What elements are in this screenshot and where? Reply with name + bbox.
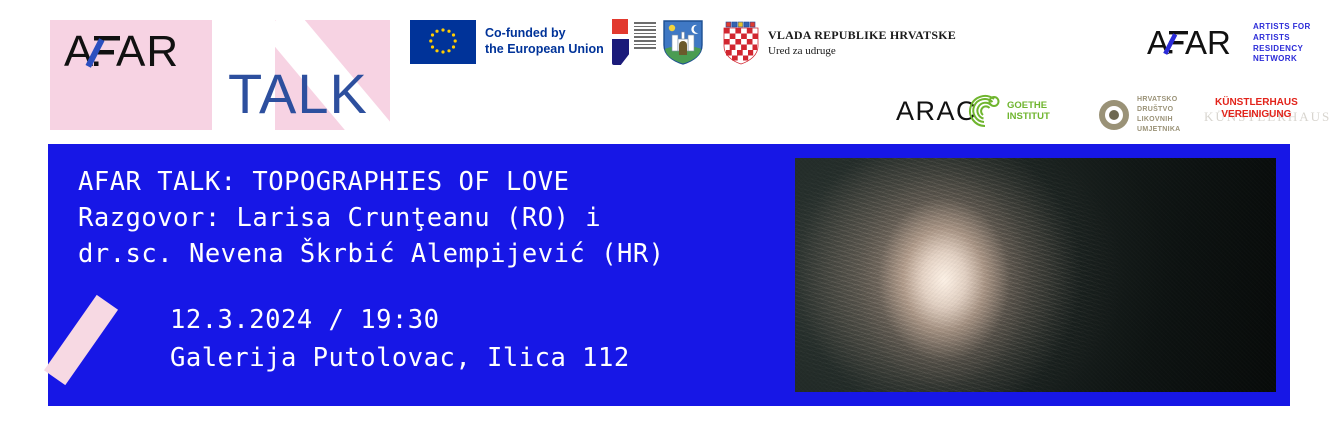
kunstlerhaus-logo: KÜNSTLERHAUS KÜNSTLERHAUS VEREINIGUNG	[1204, 96, 1312, 130]
eu-label-line2: the European Union	[485, 42, 604, 58]
photo-grain-layer	[795, 158, 1276, 392]
banner-pink-slash	[44, 295, 118, 385]
afar-wordmark-icon: A AR	[1147, 27, 1243, 61]
goethe-institut-label: GOETHE INSTITUT	[1007, 100, 1050, 123]
croatia-coat-of-arms-icon	[722, 19, 760, 65]
vlada-rh-title: VLADA REPUBLIKE HRVATSKE	[768, 28, 956, 43]
vlada-rh-logo: VLADA REPUBLIKE HRVATSKE Ured za udruge	[722, 19, 956, 65]
goethe-institut-logo: GOETHE INSTITUT	[968, 94, 1050, 128]
goethe-label-line2: INSTITUT	[1007, 111, 1050, 122]
afar-wordmark-icon: A AR	[64, 30, 198, 76]
eu-cofunded-label: Co-funded by the European Union	[485, 26, 604, 57]
event-details: 12.3.2024 / 19:30 Galerija Putolovac, Il…	[170, 301, 630, 377]
arac-logo: ARAC	[896, 96, 977, 127]
hdlu-mark-icon	[1098, 99, 1130, 131]
afar-network-tagline: ARTISTS FOR ARTISTS RESIDENCY NETWORK	[1253, 22, 1311, 65]
kulturstiftung-textlines-icon	[634, 19, 656, 65]
vlada-rh-text: VLADA REPUBLIKE HRVATSKE Ured za udruge	[768, 28, 956, 57]
header-logo-bar: A AR TALK	[0, 0, 1332, 144]
afar-tagline-line1: ARTISTS FOR	[1253, 22, 1311, 33]
afar-network-logo: A AR ARTISTS FOR ARTISTS RESIDENCY NETWO…	[1147, 22, 1311, 65]
svg-text:A: A	[1147, 27, 1169, 61]
afar-tagline-line3: RESIDENCY	[1253, 44, 1311, 55]
svg-text:AR: AR	[116, 30, 179, 76]
zagreb-coat-of-arms-icon	[660, 19, 706, 65]
afar-tagline-line2: ARTISTS	[1253, 33, 1311, 44]
hdlu-logo: HRVATSKO DRUŠTVO LIKOVNIH UMJETNIKA	[1098, 95, 1181, 136]
goethe-institut-mark-icon	[968, 94, 1002, 128]
event-banner: AFAR TALK: TOPOGRAPHIES OF LOVE Razgovor…	[48, 144, 1290, 406]
kunstlerhaus-label-line1: KÜNSTLERHAUS	[1215, 97, 1298, 109]
event-photo	[795, 158, 1276, 392]
goethe-label-line1: GOETHE	[1007, 100, 1050, 111]
kulturstiftung-logo	[612, 19, 656, 65]
svg-text:A: A	[64, 30, 94, 76]
eu-cofunded-logo: Co-funded by the European Union	[410, 20, 604, 64]
hdlu-label-line3: LIKOVNIH	[1137, 115, 1181, 125]
kunstlerhaus-label-line2: VEREINIGUNG	[1215, 109, 1298, 121]
eu-label-line1: Co-funded by	[485, 26, 604, 42]
hdlu-label-line2: DRUŠTVO	[1137, 105, 1181, 115]
hdlu-label-line1: HRVATSKO	[1137, 95, 1181, 105]
svg-text:AR: AR	[1185, 27, 1231, 61]
talk-wordmark: TALK	[228, 66, 368, 122]
afar-tagline-line4: NETWORK	[1253, 54, 1311, 65]
kunstlerhaus-label: KÜNSTLERHAUS VEREINIGUNG	[1215, 97, 1298, 120]
poster-page: A AR TALK	[0, 0, 1332, 426]
european-union-flag-icon	[410, 20, 476, 64]
hdlu-label: HRVATSKO DRUŠTVO LIKOVNIH UMJETNIKA	[1137, 95, 1181, 136]
event-title: AFAR TALK: TOPOGRAPHIES OF LOVE Razgovor…	[78, 164, 665, 272]
kulturstiftung-mark-icon	[612, 19, 630, 65]
vlada-rh-subtitle: Ured za udruge	[768, 45, 956, 57]
hdlu-label-line4: UMJETNIKA	[1137, 125, 1181, 135]
